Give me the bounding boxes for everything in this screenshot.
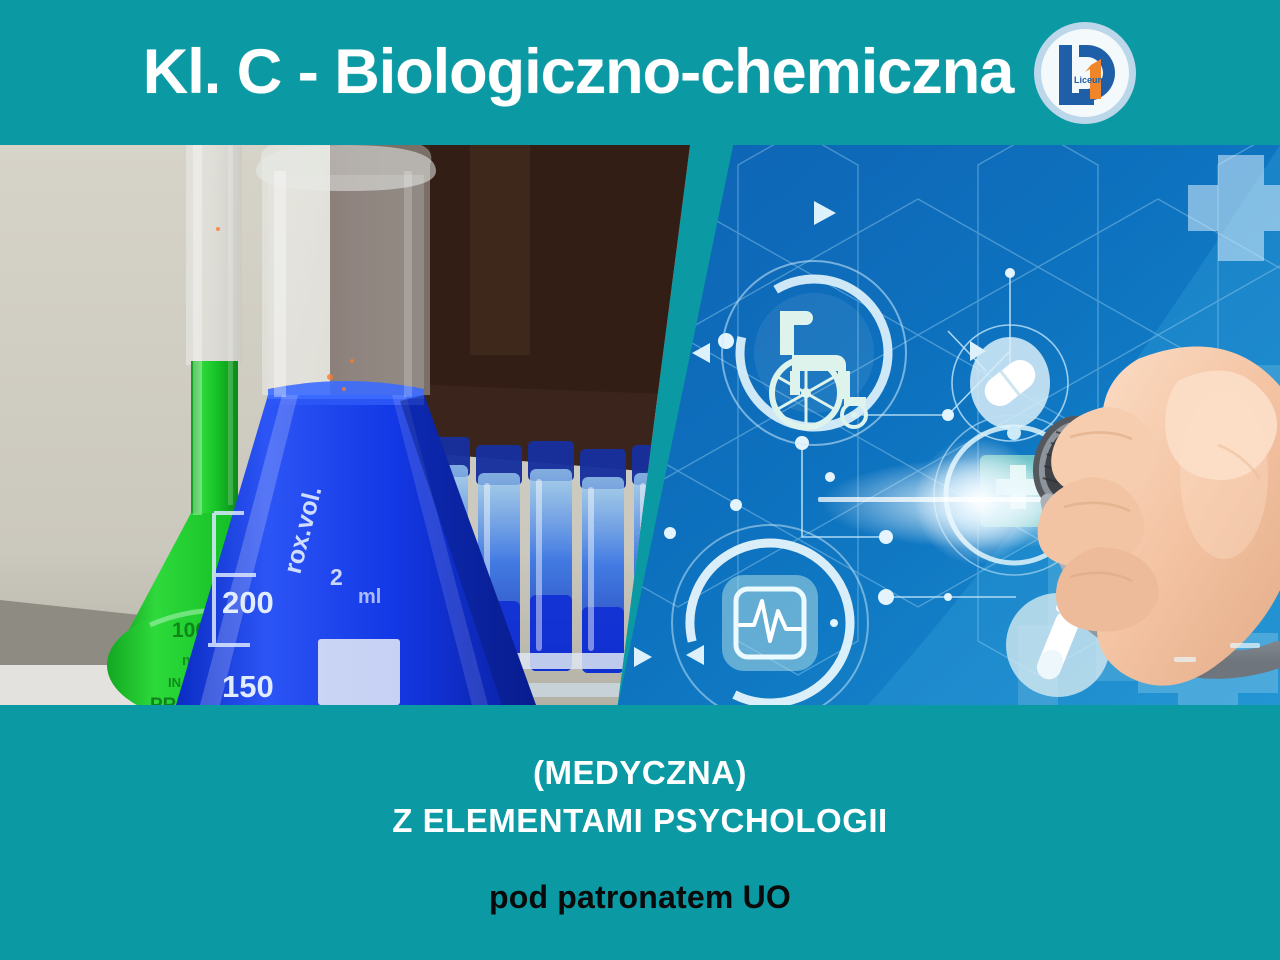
poster-footer: (MEDYCZNA) Z ELEMENTAMI PSYCHOLOGII pod … bbox=[0, 705, 1280, 960]
image-band: 100 ml IN 20°C PRECISION bbox=[0, 145, 1280, 705]
page-title: Kl. C - Biologiczno-chemiczna bbox=[143, 41, 1014, 104]
chemistry-lab-glassware-photo: 100 ml IN 20°C PRECISION bbox=[0, 145, 690, 705]
poster-root: Kl. C - Biologiczno-chemiczna Liceum Lic… bbox=[0, 0, 1280, 960]
svg-text:2: 2 bbox=[330, 564, 343, 590]
svg-text:ml: ml bbox=[358, 586, 381, 608]
flask-graduation-200: 200 bbox=[222, 585, 274, 620]
svg-text:Liceum: Liceum bbox=[1074, 75, 1106, 85]
chemistry-lab-illustration: 100 ml IN 20°C PRECISION bbox=[0, 145, 690, 705]
medical-technology-infographic bbox=[618, 145, 1280, 705]
liceum-1-logo: Liceum Liceum bbox=[1033, 21, 1137, 125]
subtitle-line-1: (MEDYCZNA) bbox=[0, 749, 1280, 797]
flask-graduation-150: 150 bbox=[222, 669, 274, 704]
liceum-1-logo-svg: Liceum bbox=[1033, 21, 1137, 125]
patronage-line: pod patronatem UO bbox=[0, 879, 1280, 916]
medical-infographic-illustration bbox=[618, 145, 1280, 705]
poster-header: Kl. C - Biologiczno-chemiczna Liceum Lic… bbox=[0, 0, 1280, 145]
subtitle-line-2: Z ELEMENTAMI PSYCHOLOGII bbox=[0, 797, 1280, 845]
